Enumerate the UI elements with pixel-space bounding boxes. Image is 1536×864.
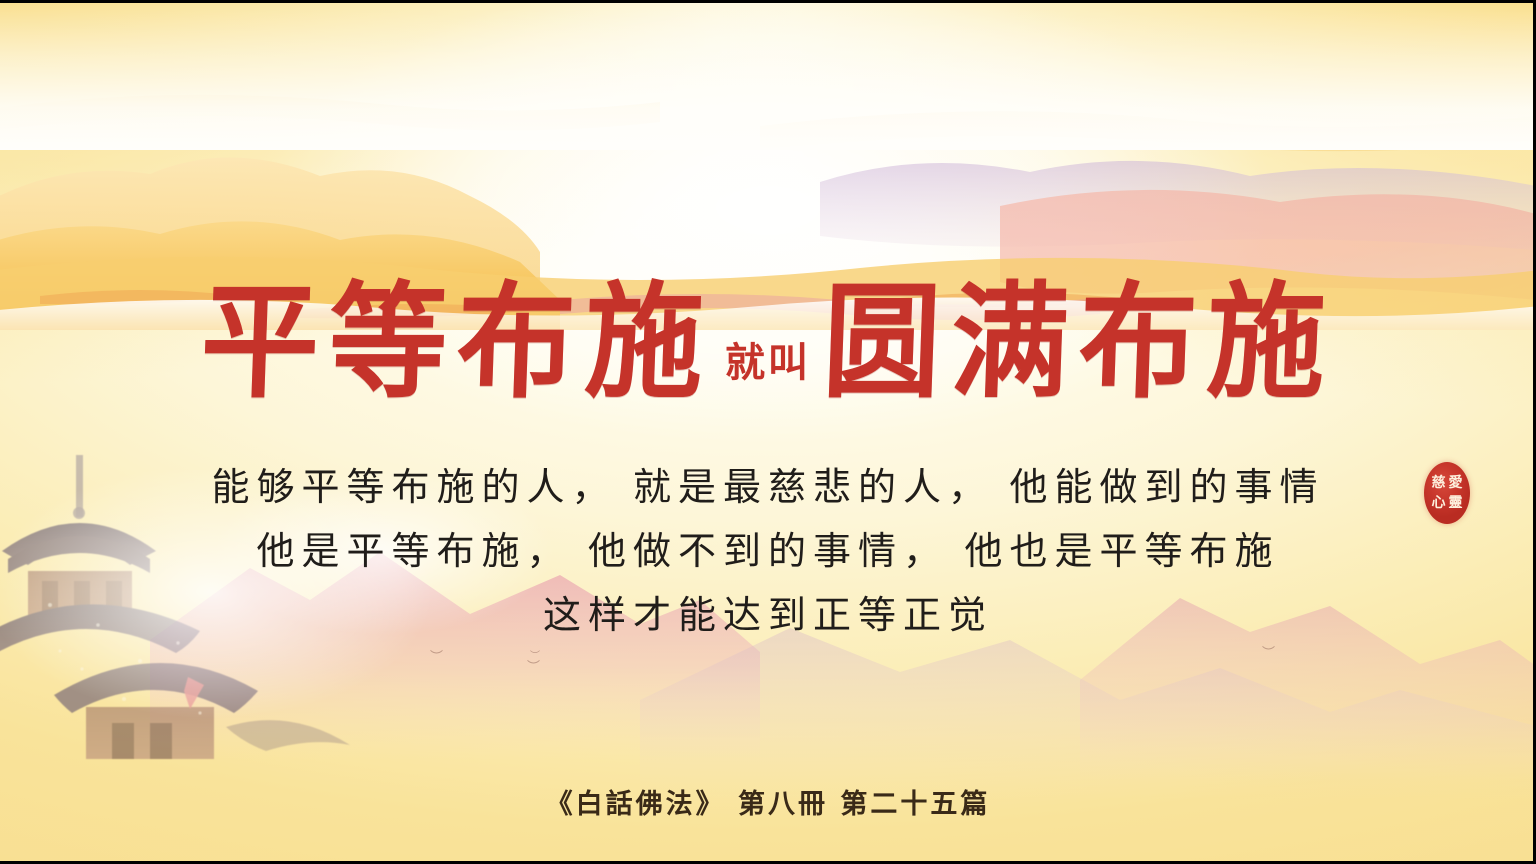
top-border-bar <box>0 0 1536 3</box>
title-connector: 就叫 <box>717 330 819 388</box>
quote-body: 能够平等布施的人， 就是最慈悲的人， 他能做到的事情 他是平等布施， 他做不到的… <box>0 456 1536 648</box>
quote-line-2: 他是平等布施， 他做不到的事情， 他也是平等布施 <box>0 520 1536 584</box>
red-seal-stamp: 慈 愛 心 靈 <box>1424 462 1470 524</box>
seal-char-1: 慈 <box>1432 476 1446 490</box>
seal-char-2: 愛 <box>1449 476 1463 490</box>
quote-line-1: 能够平等布施的人， 就是最慈悲的人， 他能做到的事情 <box>0 456 1536 520</box>
citation-text: 《白話佛法》 第八冊 第二十五篇 <box>546 789 991 820</box>
bird-icon: ︶ <box>530 652 540 662</box>
poster-canvas: ︶ ︶ ︶ ︶ 平等布施 就叫 圆满布施 能够平等布施的人， 就是最慈悲的人， … <box>0 0 1536 864</box>
seal-character-grid: 慈 愛 心 靈 <box>1430 473 1464 513</box>
bird-icon: ︶ <box>430 650 443 663</box>
title-phrase-left: 平等布施 <box>199 278 719 406</box>
seal-char-4: 靈 <box>1449 496 1463 510</box>
title-phrase-right: 圆满布施 <box>817 278 1337 406</box>
bottom-light-haze <box>0 0 1536 150</box>
seal-char-3: 心 <box>1432 496 1446 510</box>
source-citation: 《白話佛法》 第八冊 第二十五篇 <box>0 782 1536 821</box>
quote-line-3: 这样才能达到正等正觉 <box>0 584 1536 648</box>
main-title: 平等布施 就叫 圆满布施 <box>0 282 1536 402</box>
